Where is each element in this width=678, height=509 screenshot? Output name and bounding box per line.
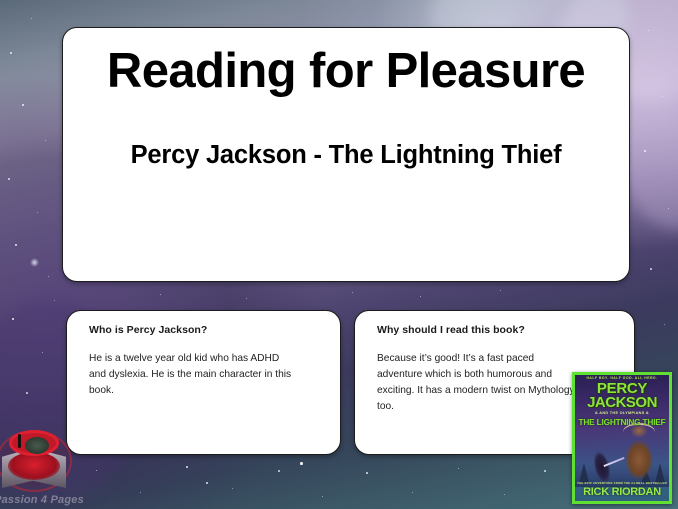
star: [12, 318, 14, 320]
page-subtitle: Percy Jackson - The Lightning Thief: [85, 141, 607, 170]
star: [300, 462, 303, 465]
cover-series-subtitle: & AND THE OLYMPIANS &: [575, 411, 669, 415]
star: [206, 482, 208, 484]
card-body: He is a twelve year old kid who has ADHD…: [89, 351, 294, 399]
eye-pupil: [18, 434, 21, 448]
star: [644, 150, 646, 152]
star: [366, 472, 368, 474]
cover-blurb: THE EPIC ADVENTURE FROM THE GLOBAL BESTS…: [575, 481, 669, 485]
star: [504, 494, 505, 495]
star: [650, 268, 652, 270]
star: [246, 298, 247, 299]
star: [420, 296, 421, 297]
star: [96, 470, 97, 471]
star: [662, 96, 663, 97]
book-cover-image: HALF BOY. HALF GOD. ALL HERO. PERCY JACK…: [572, 372, 672, 504]
card-heading: Who is Percy Jackson?: [89, 324, 324, 336]
star: [48, 276, 49, 277]
star: [232, 488, 233, 489]
star: [322, 496, 323, 497]
cover-book-title: THE LIGHTNING THIEF: [575, 417, 669, 427]
card-body: Because it’s good! It’s a fast paced adv…: [377, 351, 582, 415]
star: [278, 470, 280, 472]
presentation-slide: Reading for Pleasure Percy Jackson - The…: [0, 0, 678, 509]
star: [37, 212, 38, 213]
star: [500, 290, 501, 291]
star: [544, 470, 546, 472]
star: [352, 292, 353, 293]
star-glow: [30, 258, 39, 267]
card-heading: Why should I read this book?: [377, 324, 618, 336]
star: [648, 30, 649, 31]
cover-author: RICK RIORDAN: [575, 486, 669, 498]
star: [140, 492, 141, 493]
open-book-icon: [2, 448, 66, 488]
title-card: Reading for Pleasure Percy Jackson - The…: [62, 27, 630, 282]
star: [668, 208, 669, 209]
cover-series-line2: JACKSON: [575, 396, 669, 410]
star: [458, 468, 459, 469]
star: [26, 392, 28, 394]
eye-icon: [9, 430, 59, 456]
star: [8, 178, 10, 180]
star: [54, 300, 55, 301]
star: [15, 244, 17, 246]
star: [412, 492, 413, 493]
star: [160, 294, 161, 295]
star: [45, 140, 46, 141]
info-card-who-is-percy-jackson: Who is Percy Jackson? He is a twelve yea…: [66, 310, 341, 455]
star: [22, 104, 24, 106]
page-title: Reading for Pleasure: [85, 44, 607, 99]
star: [664, 324, 665, 325]
book-glow: [8, 452, 60, 480]
minotaur-figure: [619, 425, 659, 483]
star: [42, 352, 43, 353]
star: [186, 466, 188, 468]
star: [10, 52, 12, 54]
logo-ring: [0, 430, 72, 492]
watermark-label: Passion 4 Pages: [0, 494, 86, 506]
star: [31, 18, 32, 19]
